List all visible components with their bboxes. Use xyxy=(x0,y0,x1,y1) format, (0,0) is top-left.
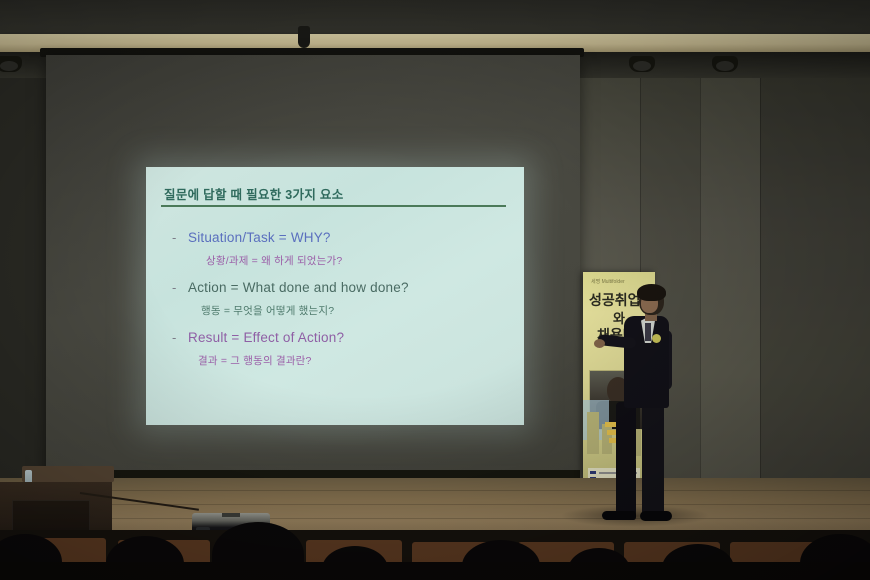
auditorium-scene: 질문에 답할 때 필요한 3가지 요소 -Situation/Task = WH… xyxy=(0,0,870,580)
bullet-1-sub-text: 상황/과제 = 왜 하게 되었는가? xyxy=(206,253,342,268)
ceiling-spotlight-icon xyxy=(0,56,22,72)
ceiling-dome-camera-icon xyxy=(298,26,310,48)
ceiling-spotlight-icon xyxy=(712,56,738,72)
presenter-left-shoe xyxy=(602,511,636,520)
bullet-3-main-text: Result = Effect of Action? xyxy=(188,330,344,345)
bullet-2-sub-text: 행동 = 무엇을 어떻게 했는지? xyxy=(201,303,334,318)
bullet-3-sub-text: 결과 = 그 행동의 결과란? xyxy=(198,353,312,368)
lectern-top-surface xyxy=(22,466,114,482)
bullet-dash: - xyxy=(172,280,188,295)
slide-bullet-3: -Result = Effect of Action? xyxy=(172,329,344,347)
bullet-dash: - xyxy=(172,330,188,345)
slide-bullet-2: -Action = What done and how done? xyxy=(172,279,409,297)
presenter-corsage xyxy=(652,334,661,343)
presenter-necktie xyxy=(645,323,651,341)
presenter-left-leg xyxy=(616,402,636,514)
ceiling-upper xyxy=(0,0,870,34)
banner-brand-text: 세명 Multifolder xyxy=(591,278,625,285)
projector-vent xyxy=(222,513,240,517)
bullet-1-main-text: Situation/Task = WHY? xyxy=(188,230,331,245)
bullet-2-main-text: Action = What done and how done? xyxy=(188,280,409,295)
wall-left-dark-panel xyxy=(0,78,48,498)
bullet-dash: - xyxy=(172,230,188,245)
banner-building-graphic xyxy=(587,412,599,454)
presenter-left-hand xyxy=(594,339,605,348)
slide-title-rule xyxy=(161,205,506,207)
slide-bullet-1: -Situation/Task = WHY? xyxy=(172,229,331,247)
presenter-right-shoe xyxy=(640,511,672,521)
presenter-hair xyxy=(637,284,666,301)
audience-foreground xyxy=(0,562,870,580)
slide-title: 질문에 답할 때 필요한 3가지 요소 xyxy=(164,184,344,203)
presentation-slide: 질문에 답할 때 필요한 3가지 요소 -Situation/Task = WH… xyxy=(146,167,524,425)
ceiling-spotlight-icon xyxy=(629,56,655,72)
banner-headline-1: 성공취업 xyxy=(589,290,641,310)
presenter-right-leg xyxy=(642,402,664,514)
